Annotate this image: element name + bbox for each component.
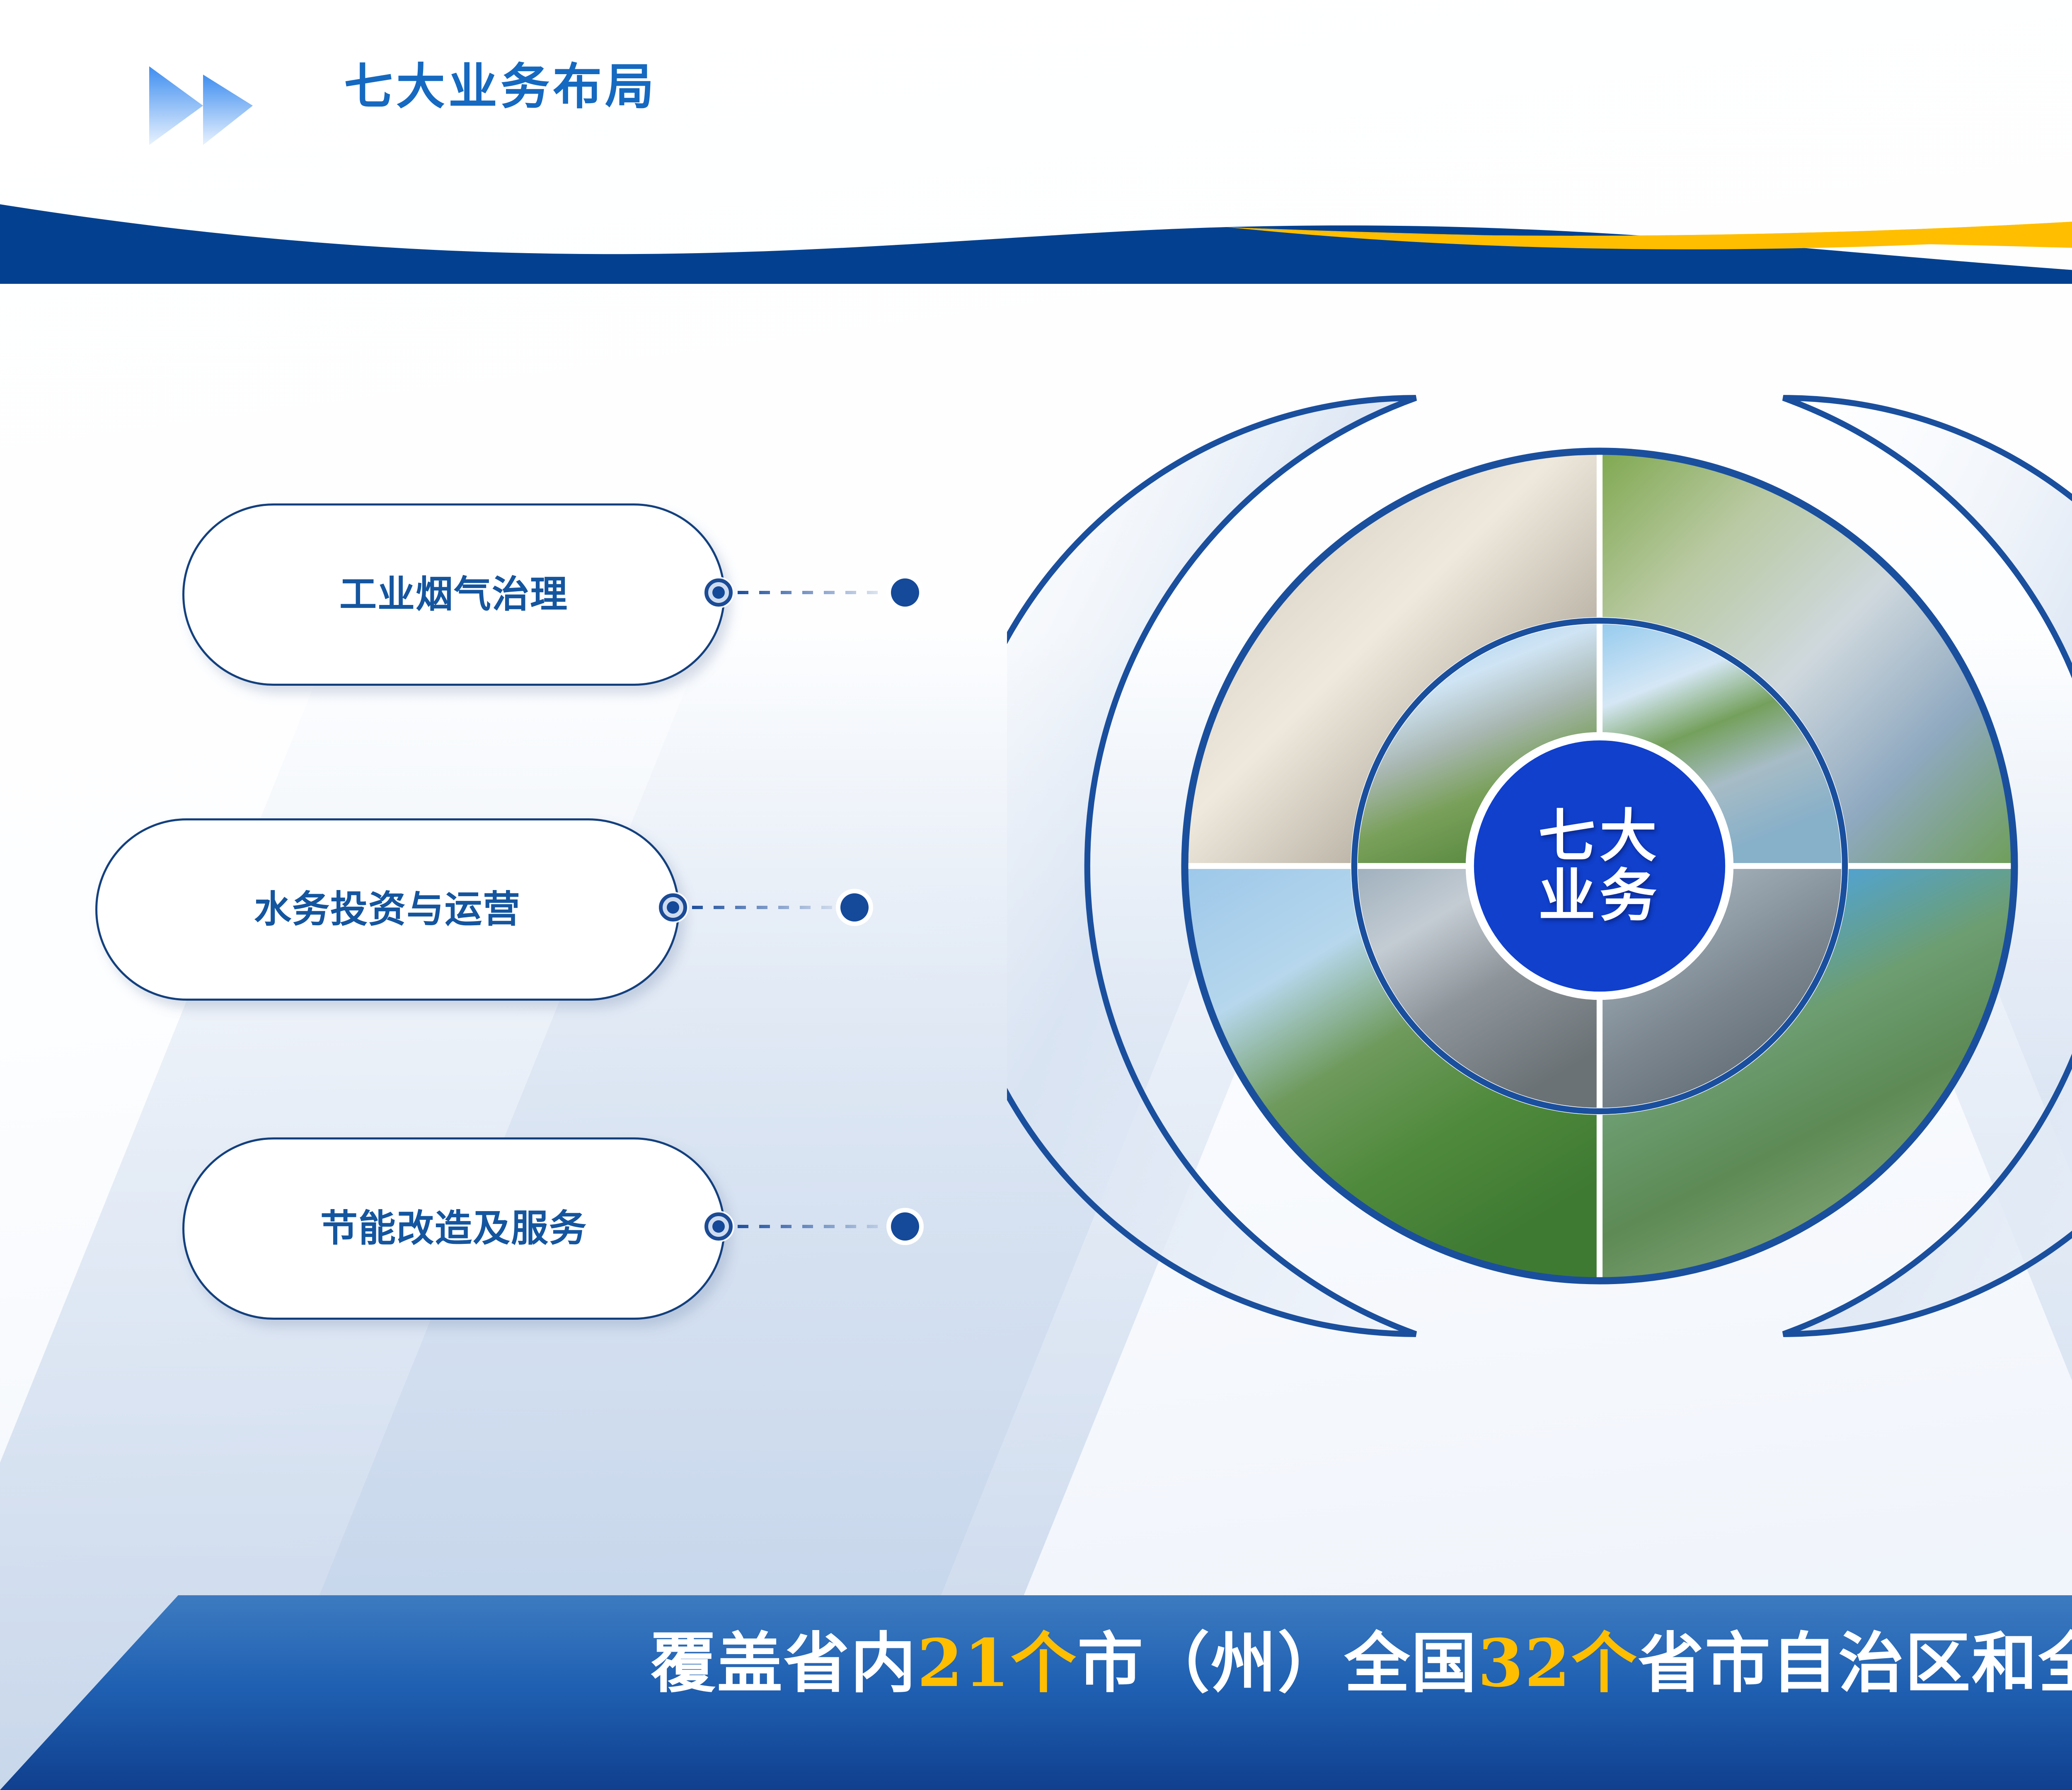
business-item-label: 工业烟气治理	[339, 574, 568, 616]
hub-label: 七大 业务	[1538, 806, 1661, 925]
business-item-label: 节能改造及服务	[320, 1208, 587, 1250]
connector-arc-dot-left-3	[891, 1212, 919, 1241]
connector-arc-dot-left-2	[840, 893, 869, 922]
connector-dot-left-1	[704, 578, 733, 607]
double-chevron-right-icon	[149, 66, 286, 147]
banner-part: 覆盖省内	[650, 1610, 917, 1705]
connector-line-left-1	[738, 591, 903, 594]
business-item-industrial-flue-gas[interactable]: 工业烟气治理	[182, 503, 725, 686]
business-item-label: 水务投资与运营	[254, 889, 521, 931]
slide-canvas: 七大业务布局 四川发展 四川省生态环保集团	[0, 0, 2072, 1790]
connector-line-left-3	[738, 1225, 903, 1228]
banner-part: 市（州）全国	[1077, 1610, 1478, 1705]
banner-part: 省市自治区和全球	[1638, 1610, 2072, 1705]
business-item-energy-saving-retrofit[interactable]: 节能改造及服务	[182, 1137, 725, 1320]
business-wheel-diagram: 七大 业务	[1007, 273, 2072, 1459]
hub-label-line2: 业务	[1538, 866, 1661, 926]
hub-label-line1: 七大	[1538, 806, 1661, 866]
header-wave-divider	[0, 172, 2072, 284]
business-item-water-investment[interactable]: 水务投资与运营	[95, 818, 680, 1001]
connector-arc-dot-left-1	[891, 578, 919, 607]
connector-dot-left-2	[659, 893, 687, 922]
coverage-banner-text: 覆盖省内21个市（州）全国32个省市自治区和全球10余个国家	[0, 1595, 2072, 1720]
banner-part-highlight: 32个	[1478, 1610, 1638, 1705]
coverage-banner: 覆盖省内21个市（州）全国32个省市自治区和全球10余个国家	[0, 1595, 2072, 1790]
connector-dot-left-3	[704, 1212, 733, 1241]
page-title: 七大业务布局	[344, 62, 657, 111]
banner-part-highlight: 21个	[917, 1610, 1077, 1705]
connector-line-left-2	[692, 906, 854, 909]
